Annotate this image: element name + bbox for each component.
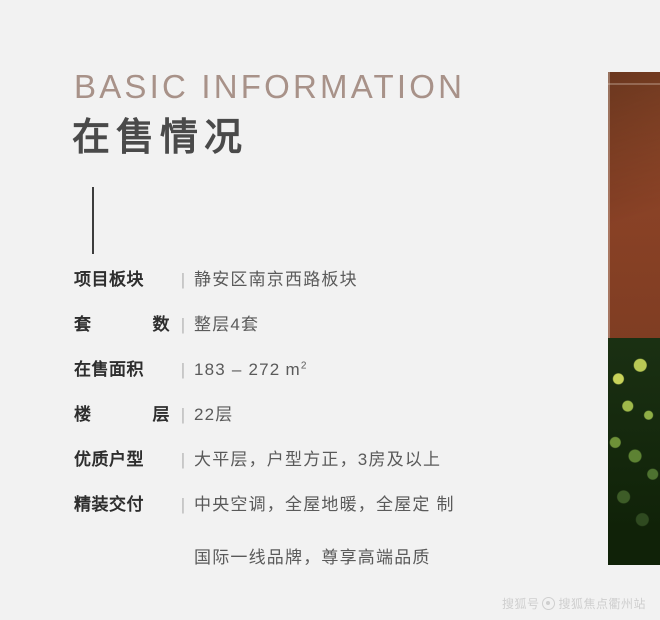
spec-label: 楼 层 [74,400,172,425]
spec-separator: | [172,315,194,335]
watermark: 搜狐号 搜狐焦点衢州站 [502,595,646,612]
spec-row: 精装交付 | 中央空调，全屋地暖，全屋定 制 [74,490,544,535]
watermark-prefix: 搜狐号 [502,595,540,612]
brick-wall-photo [608,72,660,565]
section-eyebrow: BASIC INFORMATION [74,70,465,103]
page-title: 在售情况 [72,118,248,160]
unit-exponent: 2 [301,360,308,371]
spec-label: 在售面积 [74,355,172,380]
spec-list: 项目板块 | 静安区南京西路板块 套 数 | 整层4套 在售面积 | 183 –… [74,265,544,568]
spec-row: 项目板块 | 静安区南京西路板块 [74,265,544,310]
spec-value-number: 183 – 272 [194,360,280,379]
spec-row: 套 数 | 整层4套 [74,310,544,355]
spec-separator: | [172,405,194,425]
spec-label-char: 套 [74,310,92,335]
spec-separator: | [172,495,194,515]
spec-value: 22层 [194,400,234,425]
spec-value: 中央空调，全屋地暖，全屋定 制 [194,490,455,515]
spec-label-char: 楼 [74,400,92,425]
unit-base: m [285,360,300,379]
spec-value: 整层4套 [194,310,259,335]
spec-value: 静安区南京西路板块 [194,265,358,290]
spec-value: 大平层，户型方正，3房及以上 [194,445,441,470]
spec-label: 套 数 [74,310,172,335]
spec-separator: | [172,270,194,290]
spec-row: 楼 层 | 22层 [74,400,544,445]
spec-label: 精装交付 [74,490,172,515]
spec-value-unit: m2 [285,360,307,379]
spec-separator: | [172,360,194,380]
spec-row: 优质户型 | 大平层，户型方正，3房及以上 [74,445,544,490]
page-root: BASIC INFORMATION 在售情况 项目板块 | 静安区南京西路板块 … [0,0,660,620]
spec-label-char: 层 [153,400,171,425]
watermark-suffix: 搜狐焦点衢州站 [558,595,646,612]
spec-value: 183 – 272m2 [194,360,308,380]
spec-label: 优质户型 [74,445,172,470]
spec-label: 项目板块 [74,265,172,290]
foliage-texture [608,338,660,565]
sohu-logo-icon [542,597,555,610]
spec-separator: | [172,450,194,470]
title-divider-rule [92,187,94,254]
spec-value-continuation: 国际一线品牌，尊享高端品质 [194,535,544,568]
spec-label-char: 数 [153,310,171,335]
spec-row: 在售面积 | 183 – 272m2 [74,355,544,400]
